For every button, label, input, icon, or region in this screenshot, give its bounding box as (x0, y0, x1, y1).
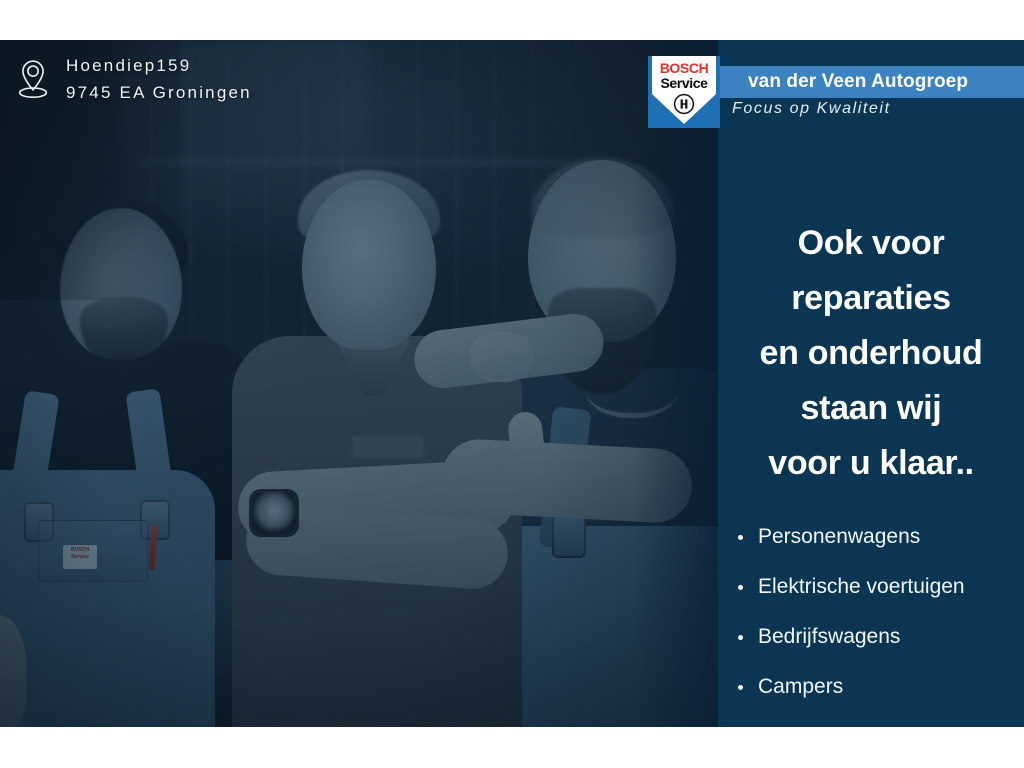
headline-line-5: voor u klaar.. (718, 436, 1024, 491)
address-block: Hoendiep159 9745 EA Groningen (16, 52, 252, 106)
bosch-service-label: Service (652, 75, 716, 91)
address-line-2: 9745 EA Groningen (66, 79, 252, 106)
bosch-wordmark: BOSCH (652, 60, 716, 76)
list-item: Elektrische voertuigen (736, 562, 1024, 612)
services-list: Personenwagens Elektrische voertuigen Be… (736, 512, 1024, 712)
list-item: Personenwagens (736, 512, 1024, 562)
list-item: Campers (736, 662, 1024, 712)
company-name: van der Veen Autogroep (718, 67, 1024, 97)
headline-line-3: en onderhoud (718, 326, 1024, 381)
map-pin-icon (16, 58, 50, 100)
advertisement-banner: BOSCHService (0, 40, 1024, 727)
photo-right-edge-shade (634, 40, 724, 727)
address-line-1: Hoendiep159 (66, 52, 252, 79)
bosch-armature-icon (673, 93, 695, 115)
bosch-service-logo: BOSCH Service (648, 56, 720, 128)
list-item: Bedrijfswagens (736, 612, 1024, 662)
headline-line-1: Ook voor (718, 216, 1024, 271)
headline: Ook voor reparaties en onderhoud staan w… (718, 216, 1024, 491)
headline-line-2: reparaties (718, 271, 1024, 326)
workshop-photo: BOSCHService (0, 40, 724, 727)
company-tagline: Focus op Kwaliteit (718, 100, 1024, 118)
address-text: Hoendiep159 9745 EA Groningen (66, 52, 252, 106)
headline-line-4: staan wij (718, 381, 1024, 436)
